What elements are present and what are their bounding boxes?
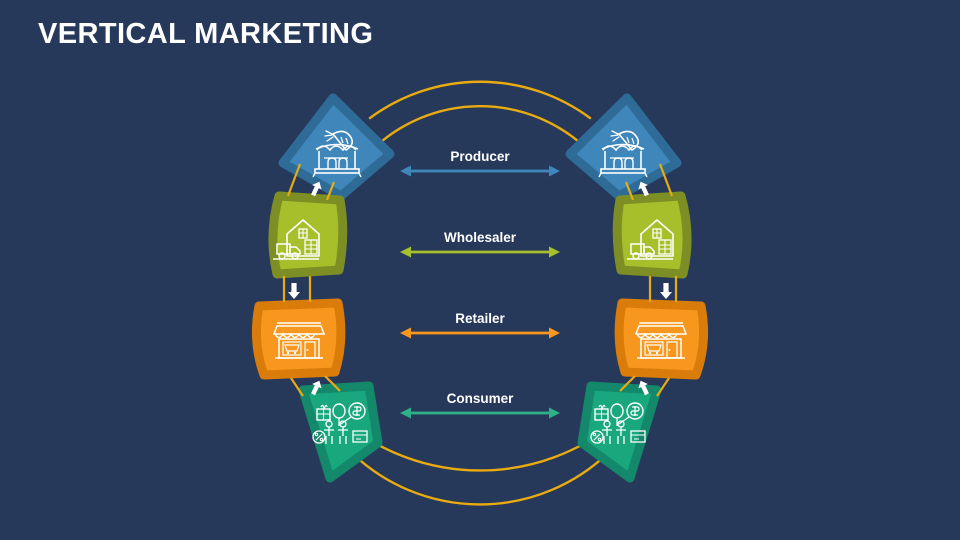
segment-producer-right[interactable] (570, 98, 677, 196)
segment-shape (617, 196, 687, 274)
segment-wholesaler-left[interactable] (273, 196, 343, 274)
stage-label-retailer: Retailer (370, 311, 590, 326)
segment-shape (570, 98, 677, 196)
segment-retailer-right[interactable] (619, 303, 703, 375)
segment-shape (273, 196, 343, 274)
relation-arrow-producer (400, 166, 560, 177)
center-relation-arrows (400, 166, 560, 419)
arrow-down-icon (660, 283, 672, 299)
segment-consumer-right[interactable] (582, 386, 657, 478)
stage-label-consumer: Consumer (370, 391, 590, 406)
arrow-down-icon (288, 283, 300, 299)
arc-bottom-inner (344, 422, 616, 470)
segment-wholesaler-right[interactable] (617, 196, 687, 274)
stage-label-producer: Producer (370, 149, 590, 164)
relation-arrow-consumer (400, 408, 560, 419)
segment-consumer-left[interactable] (303, 386, 378, 478)
slide-canvas: VERTICAL MARKETING (0, 0, 960, 540)
segment-producer-left[interactable] (283, 98, 390, 196)
vertical-marketing-cycle-diagram (0, 0, 960, 540)
segment-shape (283, 98, 390, 196)
arc-top-inner (372, 106, 588, 150)
segment-retailer-left[interactable] (256, 303, 340, 375)
relation-arrow-wholesaler (400, 247, 560, 258)
arc-bottom-outer (352, 453, 608, 504)
arc-top-outer (370, 82, 590, 118)
stage-label-wholesaler: Wholesaler (370, 230, 590, 245)
relation-arrow-retailer (400, 328, 560, 339)
